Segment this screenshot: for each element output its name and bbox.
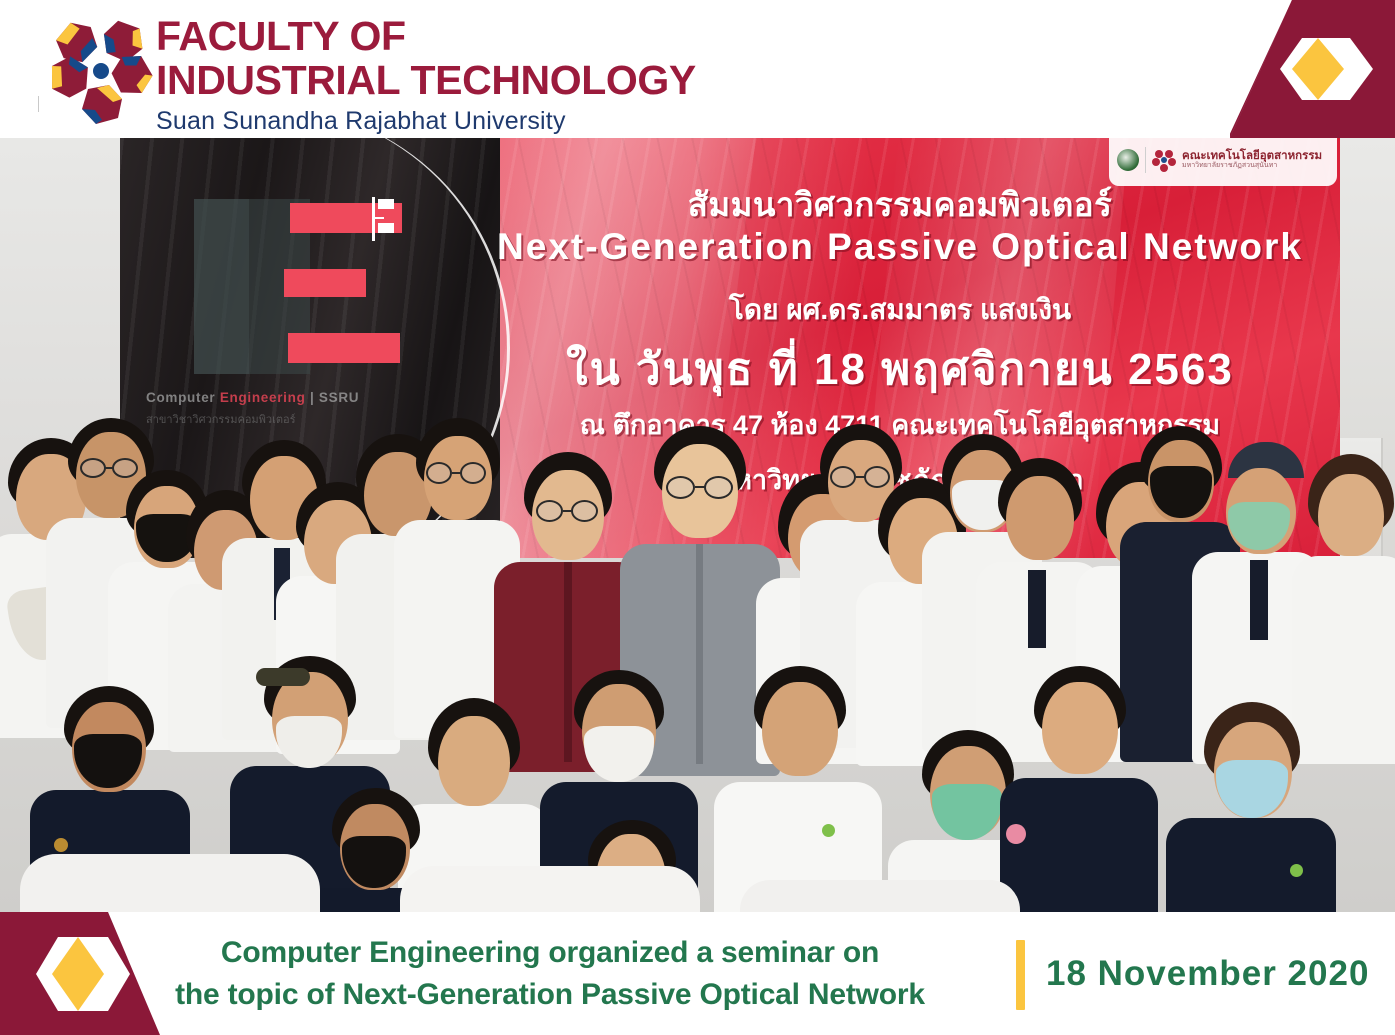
faculty-title-block: FACULTY OF INDUSTRIAL TECHNOLOGY Suan Su… — [156, 10, 856, 134]
caption-line-1: Computer Engineering organized a seminar… — [221, 934, 879, 972]
header-band: FACULTY OF INDUSTRIAL TECHNOLOGY Suan Su… — [0, 0, 1395, 138]
person-front-9 — [1000, 666, 1158, 912]
poster-canvas: FACULTY OF INDUSTRIAL TECHNOLOGY Suan Su… — [0, 0, 1395, 1035]
caption-line-2: the topic of Next-Generation Passive Opt… — [175, 976, 925, 1014]
faculty-title-line1: FACULTY OF — [156, 10, 856, 58]
person-front-7 — [714, 666, 882, 912]
chair-foreground-mid — [400, 866, 700, 912]
yellow-vertical-divider — [1016, 940, 1025, 1010]
faculty-title-line2: INDUSTRIAL TECHNOLOGY — [156, 58, 856, 102]
event-date: 18 November 2020 — [1046, 912, 1369, 1035]
person-front-10 — [1166, 702, 1336, 912]
ssru-flower-logo — [48, 14, 156, 124]
seminar-group-photo: Computer Engineering | SSRU สาขาวิชาวิศว… — [0, 138, 1395, 912]
maroon-hexagon-diamond-ornament — [1230, 0, 1395, 138]
group-of-attendees — [0, 138, 1395, 912]
chair-foreground-left — [20, 854, 320, 912]
university-name: Suan Sunandha Rajabhat University — [156, 102, 856, 136]
caption-band: Computer Engineering organized a seminar… — [0, 912, 1395, 1035]
chair-foreground-right — [740, 880, 1020, 912]
header-tick-mark — [38, 96, 39, 112]
caption-text-block: Computer Engineering organized a seminar… — [110, 926, 990, 1022]
